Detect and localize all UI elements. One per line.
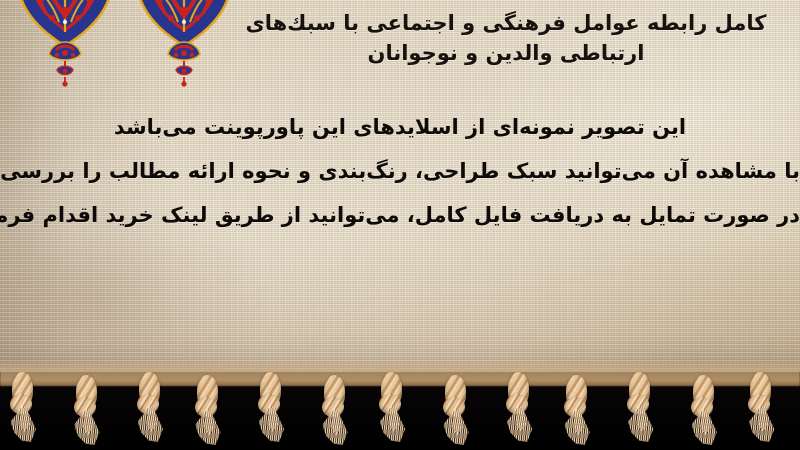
slide-body-line-1: این تصویر نمونه‌ای از اسلایدهای این پاور… (0, 105, 800, 149)
fringe-tassel (254, 372, 288, 442)
fringe-tassel (560, 375, 594, 445)
slide-title-line-1: کامل رابطه عوامل فرهنگی و اجتماعی با سبك… (230, 8, 782, 38)
fringe-tassel (687, 375, 721, 445)
persian-medallion-motif-left (6, 0, 124, 90)
persian-medallion-motif-right (125, 0, 243, 90)
slide-canvas: کامل رابطه عوامل فرهنگی و اجتماعی با سبك… (0, 0, 800, 450)
slide-title-line-2: ارتباطی والدین و نوجوانان (230, 38, 782, 68)
fringe-tassel (623, 372, 657, 442)
carpet-fringe-tassels (0, 372, 800, 450)
fringe-tassel (439, 375, 473, 445)
slide-body-line-3: در صورت تمایل به دریافت فایل کامل، می‌تو… (0, 193, 800, 237)
fringe-tassel (502, 372, 536, 442)
slide-body-line-2: با مشاهده آن می‌توانید سبک طراحی، رنگ‌بن… (0, 149, 800, 193)
fringe-tassel (133, 372, 167, 442)
fringe-tassel (375, 372, 409, 442)
fringe-tassel (191, 375, 225, 445)
slide-title: کامل رابطه عوامل فرهنگی و اجتماعی با سبك… (230, 8, 782, 68)
slide-body: این تصویر نمونه‌ای از اسلایدهای این پاور… (0, 105, 800, 237)
fringe-tassel (6, 372, 40, 442)
fringe-tassel (70, 375, 104, 445)
fringe-tassel (318, 375, 352, 445)
fringe-tassel (744, 372, 778, 442)
